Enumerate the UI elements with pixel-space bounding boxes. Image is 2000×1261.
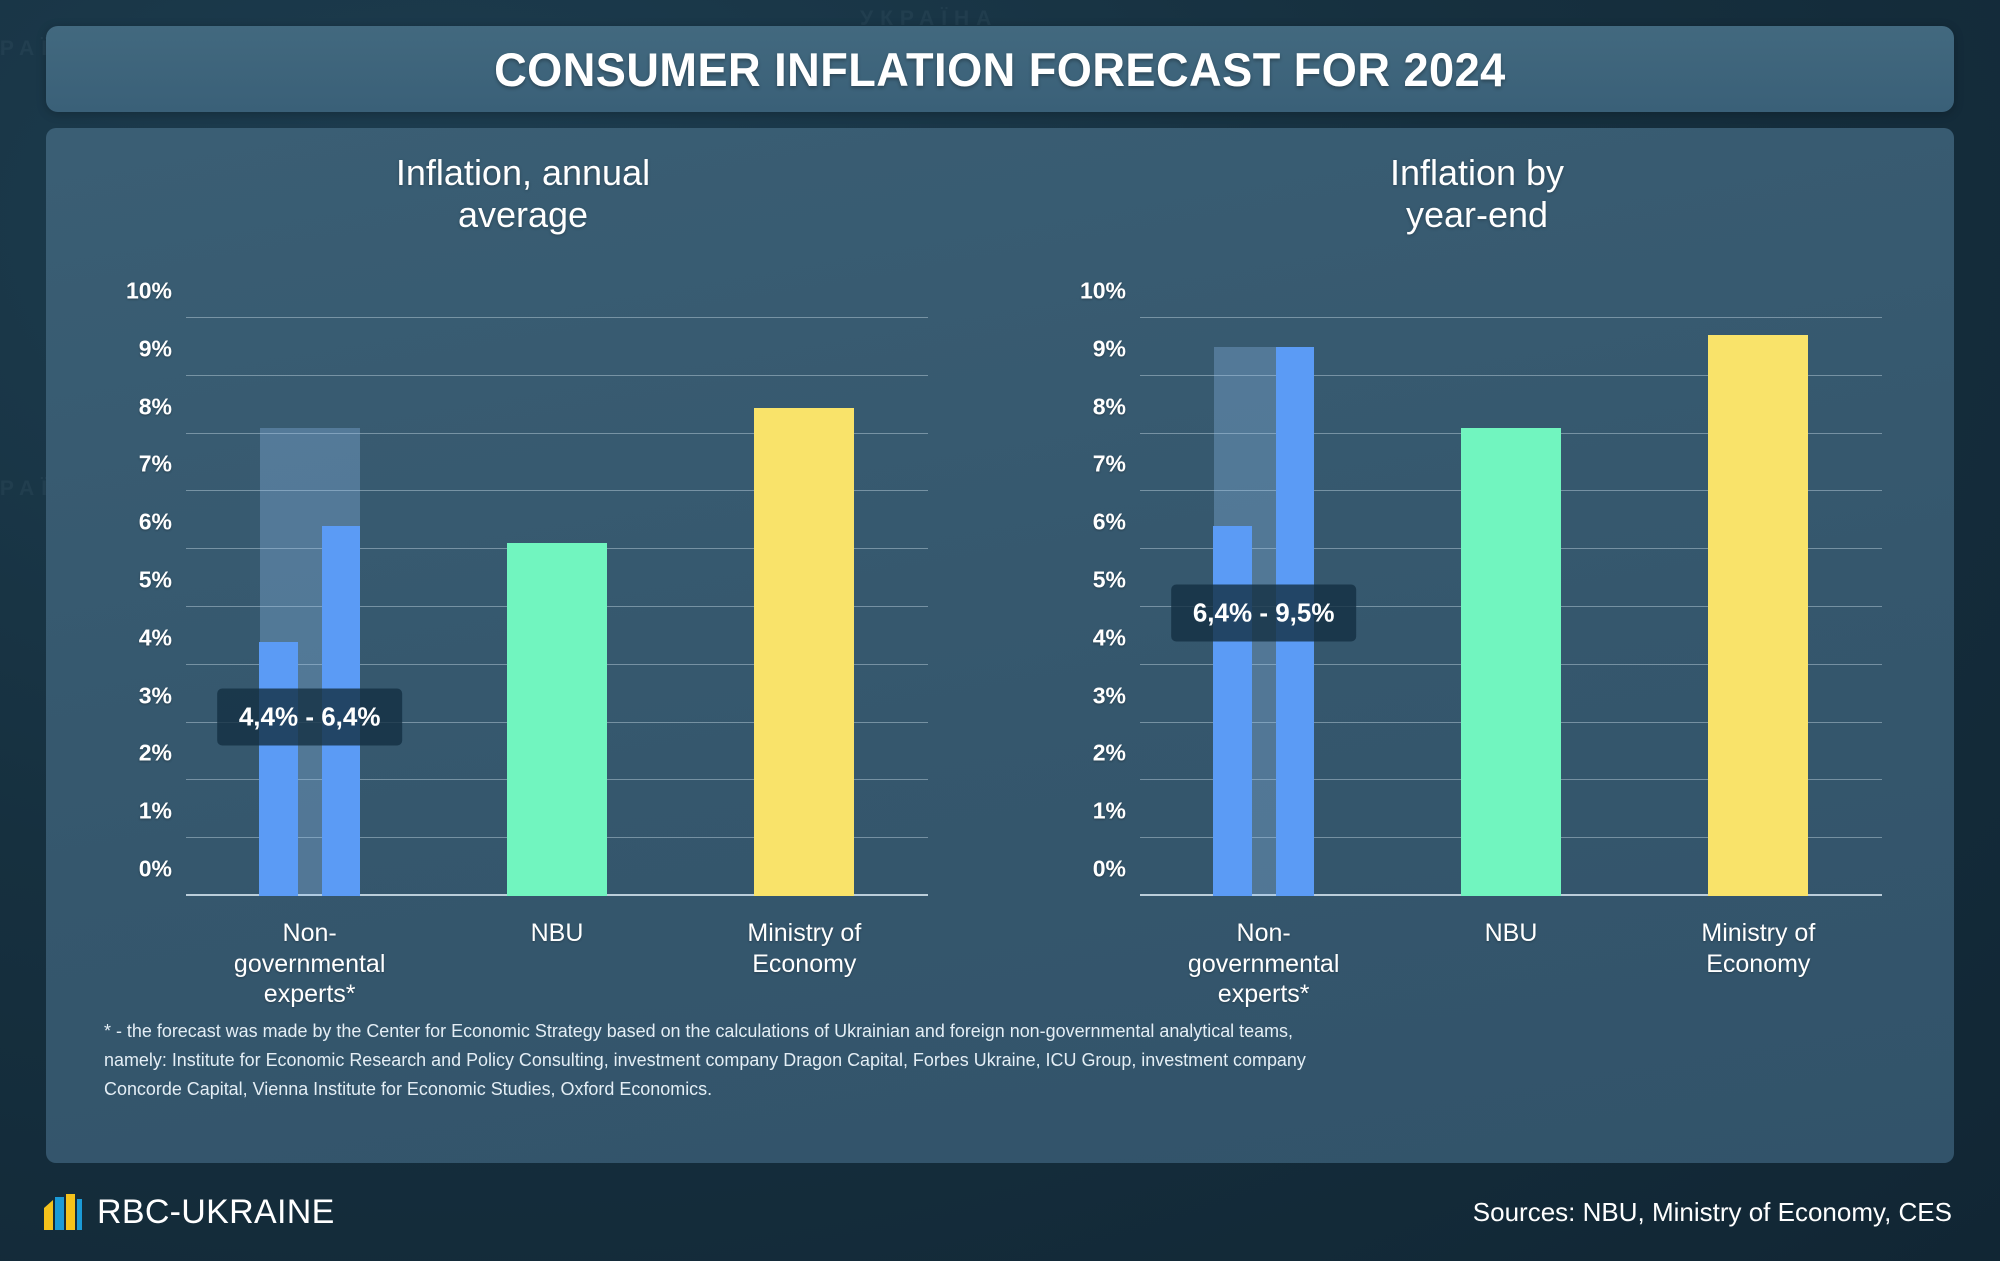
charts-row: Inflation, annual average 0%1%2%3%4%5%6%…: [46, 128, 1954, 1008]
category-label-line: governmental: [234, 949, 385, 980]
chart-title-line: year-end: [1000, 194, 1954, 236]
range-value-label: 4,4% - 6,4%: [217, 688, 403, 745]
x-axis-category-label: Ministry ofEconomy: [1701, 918, 1815, 979]
x-axis-category-label: Non-governmentalexperts*: [1188, 918, 1339, 1010]
page-title: CONSUMER INFLATION FORECAST FOR 2024: [494, 42, 1506, 97]
chart-title-line: Inflation, annual: [46, 152, 1000, 194]
category-label-line: experts*: [234, 979, 385, 1010]
y-axis-tick-label: 9%: [139, 335, 172, 362]
y-axis-tick-label: 4%: [139, 624, 172, 651]
bar-low: [259, 642, 298, 896]
y-axis-tick-label: 0%: [139, 856, 172, 883]
page-footer: RBC-UKRAINE Sources: NBU, Ministry of Ec…: [0, 1163, 2000, 1261]
chart-title-year-end: Inflation by year-end: [1000, 152, 1954, 236]
category-label-line: governmental: [1188, 949, 1339, 980]
y-axis-tick-label: 10%: [1080, 278, 1126, 305]
category-label-line: NBU: [531, 918, 584, 949]
gridline: 9%: [186, 375, 928, 376]
y-axis-tick-label: 9%: [1093, 335, 1126, 362]
y-axis-tick-label: 2%: [139, 740, 172, 767]
bar-ministry-of-economy: [1708, 335, 1808, 896]
chart-inflation-annual-average: Inflation, annual average 0%1%2%3%4%5%6%…: [46, 128, 1000, 1008]
category-label-line: Economy: [747, 949, 861, 980]
gridline: 10%: [1140, 317, 1882, 318]
category-label-line: Non-: [1188, 918, 1339, 949]
y-axis-tick-label: 8%: [1093, 393, 1126, 420]
plot-area-year-end: 0%1%2%3%4%5%6%7%8%9%10%6,4% - 9,5%Non-go…: [1140, 318, 1882, 896]
title-banner: CONSUMER INFLATION FORECAST FOR 2024: [46, 26, 1954, 112]
main-content-panel: Inflation, annual average 0%1%2%3%4%5%6%…: [46, 128, 1954, 1163]
y-axis-tick-label: 3%: [139, 682, 172, 709]
x-axis-category-label: Ministry ofEconomy: [747, 918, 861, 979]
sources-text: Sources: NBU, Ministry of Economy, CES: [1473, 1197, 1952, 1228]
y-axis-tick-label: 6%: [139, 509, 172, 536]
category-label-line: NBU: [1485, 918, 1538, 949]
y-axis-tick-label: 10%: [126, 278, 172, 305]
category-label-line: experts*: [1188, 979, 1339, 1010]
bar-nbu: [507, 543, 607, 896]
category-label-line: Ministry of: [1701, 918, 1815, 949]
brand-name: RBC-UKRAINE: [97, 1193, 335, 1232]
y-axis-tick-label: 5%: [1093, 567, 1126, 594]
category-label-line: Economy: [1701, 949, 1815, 980]
y-axis-tick-label: 7%: [1093, 451, 1126, 478]
range-value-label: 6,4% - 9,5%: [1171, 584, 1357, 641]
x-axis-category-label: NBU: [531, 918, 584, 949]
y-axis-tick-label: 3%: [1093, 682, 1126, 709]
chart-title-line: Inflation by: [1000, 152, 1954, 194]
category-label-line: Non-: [234, 918, 385, 949]
bar-ministry-of-economy: [754, 408, 854, 896]
y-axis-tick-label: 4%: [1093, 624, 1126, 651]
y-axis-tick-label: 8%: [139, 393, 172, 420]
footnote-text: * - the forecast was made by the Center …: [104, 1016, 1355, 1104]
y-axis-tick-label: 6%: [1093, 509, 1126, 536]
chart-title-line: average: [46, 194, 1000, 236]
chart-inflation-year-end: Inflation by year-end 0%1%2%3%4%5%6%7%8%…: [1000, 128, 1954, 1008]
y-axis-tick-label: 0%: [1093, 856, 1126, 883]
plot-inner: 0%1%2%3%4%5%6%7%8%9%10%4,4% - 6,4%Non-go…: [186, 318, 928, 896]
rbc-bars-logo-icon: [44, 1194, 82, 1230]
plot-inner: 0%1%2%3%4%5%6%7%8%9%10%6,4% - 9,5%Non-go…: [1140, 318, 1882, 896]
y-axis-tick-label: 1%: [1093, 798, 1126, 825]
watermark-decoration: РБК УКРАЇНА: [860, 0, 998, 29]
bar-low: [1213, 526, 1252, 896]
x-axis-category-label: NBU: [1485, 918, 1538, 949]
y-axis-tick-label: 7%: [139, 451, 172, 478]
brand-logo: RBC-UKRAINE: [44, 1193, 335, 1232]
plot-area-annual-average: 0%1%2%3%4%5%6%7%8%9%10%4,4% - 6,4%Non-go…: [186, 318, 928, 896]
category-label-line: Ministry of: [747, 918, 861, 949]
y-axis-tick-label: 5%: [139, 567, 172, 594]
gridline: 10%: [186, 317, 928, 318]
chart-title-annual-average: Inflation, annual average: [46, 152, 1000, 236]
y-axis-tick-label: 1%: [139, 798, 172, 825]
x-axis-category-label: Non-governmentalexperts*: [234, 918, 385, 1010]
bar-nbu: [1461, 428, 1561, 896]
y-axis-tick-label: 2%: [1093, 740, 1126, 767]
